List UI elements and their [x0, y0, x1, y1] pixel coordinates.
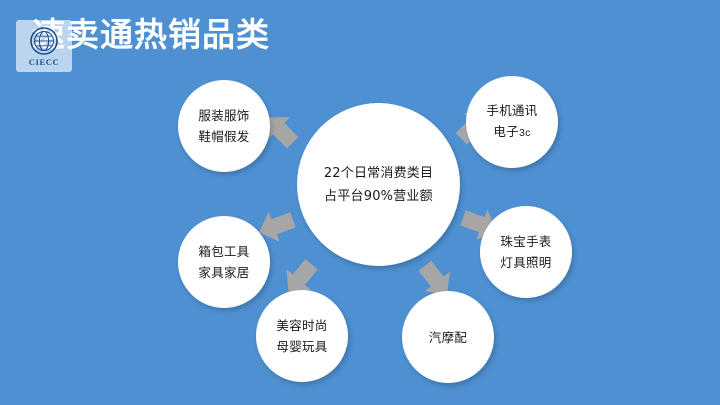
category-bubble-jewelry[interactable]: 珠宝手表 灯具照明	[480, 206, 572, 298]
category-bubble-bags[interactable]: 箱包工具 家具家居	[178, 216, 270, 308]
title-block: 速卖通热销品类	[18, 12, 438, 64]
center-bubble: 22个日常消费类目 占平台90%营业额	[297, 103, 460, 266]
category-bubble-apparel-line-1: 服装服饰	[198, 105, 249, 126]
category-bubble-auto-line-1: 汽摩配	[429, 327, 467, 348]
category-bubble-bags-line-2: 家具家居	[198, 262, 249, 283]
globe-icon	[29, 26, 59, 56]
category-bubble-beauty-line-2: 母婴玩具	[276, 336, 327, 357]
category-bubble-phone[interactable]: 手机通讯 电子3c	[466, 76, 558, 168]
center-bubble-line-1: 22个日常消费类目	[324, 162, 433, 185]
ciecc-logo: CIECC	[16, 20, 72, 72]
category-bubble-apparel[interactable]: 服装服饰 鞋帽假发	[178, 80, 270, 172]
category-bubble-phone-line-2: 电子3c	[493, 121, 530, 144]
category-bubble-jewelry-line-2: 灯具照明	[500, 252, 551, 273]
category-bubble-beauty[interactable]: 美容时尚 母婴玩具	[256, 290, 348, 382]
center-bubble-line-2: 占平台90%营业额	[324, 185, 433, 208]
category-bubble-beauty-line-1: 美容时尚	[276, 315, 327, 336]
logo-text: CIECC	[29, 57, 59, 67]
category-bubble-apparel-line-2: 鞋帽假发	[198, 126, 249, 147]
category-bubble-auto[interactable]: 汽摩配	[402, 291, 494, 383]
slide-canvas: 速卖通热销品类 CIECC	[0, 0, 720, 405]
category-bubble-phone-line-2-main: 电子	[493, 124, 519, 139]
category-bubble-bags-line-1: 箱包工具	[198, 241, 249, 262]
category-bubble-jewelry-line-1: 珠宝手表	[500, 231, 551, 252]
category-bubble-phone-line-2-suffix: 3c	[519, 127, 531, 139]
category-bubble-phone-line-1: 手机通讯	[486, 100, 537, 121]
